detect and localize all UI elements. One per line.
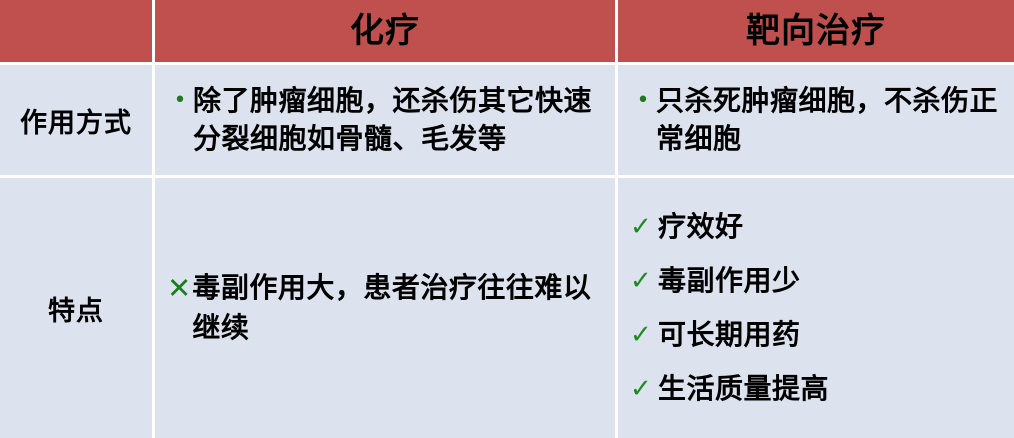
marked-text-chemo-characteristics: ✕ 毒副作用大，患者治疗往往难以继续 (155, 268, 615, 348)
check-mark-icon: ✓ (630, 322, 656, 348)
bullet-list-targeted-mode: • 只杀死肿瘤细胞，不杀伤正常细胞 (618, 82, 1014, 158)
check-mark-icon: ✓ (630, 376, 656, 402)
cross-mark-icon: ✕ (167, 268, 191, 308)
table-row-mode-of-action: 作用方式 • 除了肿瘤细胞，还杀伤其它快速分裂细胞如骨髓、毛发等 • 只杀死肿瘤… (0, 65, 1014, 175)
bullet-item-text: 毒副作用大，患者治疗往往难以继续 (192, 268, 601, 348)
cell-chemo-characteristics: ✕ 毒副作用大，患者治疗往往难以继续 (155, 178, 615, 438)
cell-targeted-mode-of-action: • 只杀死肿瘤细胞，不杀伤正常细胞 (618, 65, 1014, 175)
list-item: ✓ 疗效好 (630, 200, 1000, 254)
header-cell-corner (0, 0, 152, 62)
header-label-targeted-therapy: 靶向治疗 (746, 14, 886, 48)
bullet-item-text: 只杀死肿瘤细胞，不杀伤正常细胞 (656, 82, 1000, 158)
check-item-text: 可长期用药 (658, 321, 801, 349)
check-item-text: 疗效好 (658, 213, 744, 241)
list-item: ✕ 毒副作用大，患者治疗往往难以继续 (167, 268, 601, 348)
cell-chemo-mode-of-action: • 除了肿瘤细胞，还杀伤其它快速分裂细胞如骨髓、毛发等 (155, 65, 615, 175)
cell-targeted-characteristics: ✓ 疗效好 ✓ 毒副作用少 ✓ 可长期用药 ✓ 生活质量提高 (618, 178, 1014, 438)
check-item-text: 毒副作用少 (658, 267, 801, 295)
row-label-mode-of-action: 作用方式 (0, 65, 152, 175)
bullet-item-text: 除了肿瘤细胞，还杀伤其它快速分裂细胞如骨髓、毛发等 (193, 82, 601, 158)
check-mark-icon: ✓ (630, 214, 656, 240)
check-mark-icon: ✓ (630, 268, 656, 294)
list-item: • 除了肿瘤细胞，还杀伤其它快速分裂细胞如骨髓、毛发等 (169, 82, 601, 158)
list-item: ✓ 可长期用药 (630, 308, 1000, 362)
row-label-text: 特点 (48, 289, 104, 328)
comparison-table: 化疗 靶向治疗 作用方式 • 除了肿瘤细胞，还杀伤其它快速分裂细胞如骨髓、毛发等… (0, 0, 1014, 438)
header-label-chemotherapy: 化疗 (350, 14, 420, 48)
list-item: ✓ 毒副作用少 (630, 254, 1000, 308)
list-item: ✓ 生活质量提高 (630, 362, 1000, 416)
bullet-list-chemo-mode: • 除了肿瘤细胞，还杀伤其它快速分裂细胞如骨髓、毛发等 (155, 82, 615, 158)
table-row-characteristics: 特点 ✕ 毒副作用大，患者治疗往往难以继续 ✓ 疗效好 ✓ 毒副作用少 (0, 178, 1014, 438)
header-cell-targeted-therapy: 靶向治疗 (618, 0, 1014, 62)
row-label-characteristics: 特点 (0, 178, 152, 438)
bullet-dot-icon: • (632, 82, 654, 120)
bullet-dot-icon: • (169, 82, 191, 120)
table-header-row: 化疗 靶向治疗 (0, 0, 1014, 62)
row-label-text: 作用方式 (20, 101, 132, 140)
check-item-text: 生活质量提高 (658, 375, 829, 403)
check-list-targeted-characteristics: ✓ 疗效好 ✓ 毒副作用少 ✓ 可长期用药 ✓ 生活质量提高 (618, 194, 1014, 422)
header-cell-chemotherapy: 化疗 (155, 0, 615, 62)
list-item: • 只杀死肿瘤细胞，不杀伤正常细胞 (632, 82, 1000, 158)
